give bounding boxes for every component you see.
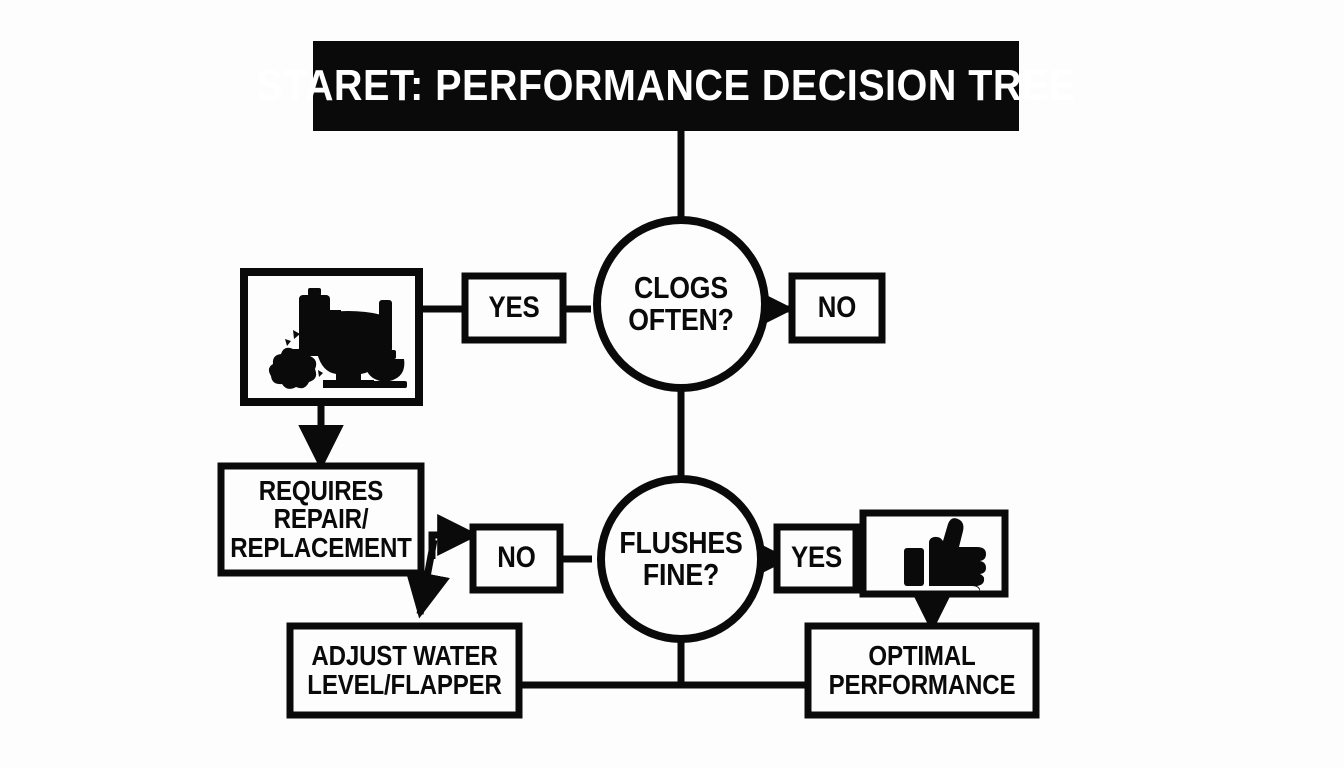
decision-clogs-shape[interactable] bbox=[597, 220, 765, 388]
label-clogs-yes-shape[interactable] bbox=[465, 276, 563, 340]
outcome-repair-shape[interactable] bbox=[221, 466, 421, 573]
decision-flushes-shape[interactable] bbox=[601, 479, 761, 639]
label-flushes-no-shape[interactable] bbox=[473, 527, 560, 590]
flowchart-canvas: STARET: PERFORMANCE DECISION TREE CLOGS … bbox=[0, 0, 1344, 768]
outcome-optimal-shape[interactable] bbox=[808, 626, 1036, 715]
label-clogs-no-shape[interactable] bbox=[792, 276, 882, 340]
label-flushes-yes-shape[interactable] bbox=[777, 527, 856, 590]
outcome-adjust-shape[interactable] bbox=[290, 626, 519, 715]
page-title: STARET: PERFORMANCE DECISION TREE bbox=[348, 41, 983, 131]
edge-junction-to-no bbox=[432, 535, 475, 559]
